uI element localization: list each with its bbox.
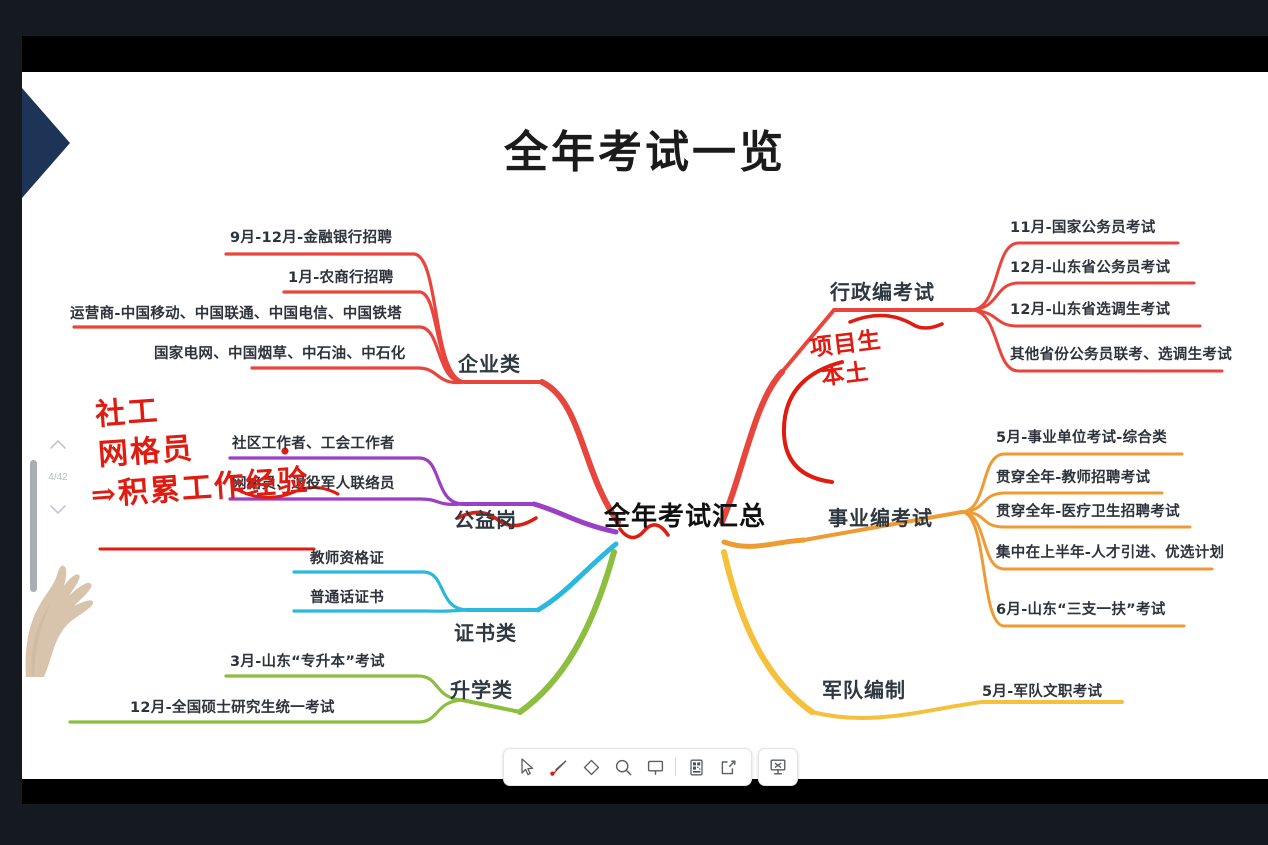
leaf-zhengshulei-0[interactable]: 教师资格证 xyxy=(310,547,384,568)
slide-canvas[interactable]: 全年考试一览 xyxy=(22,72,1268,779)
qrcode-icon xyxy=(687,758,706,777)
branch-label-shengxuelei[interactable]: 升学类 xyxy=(450,674,513,703)
leaf-shengxuelei-0[interactable]: 3月-山东“专升本”考试 xyxy=(230,650,385,671)
handwriting-annotation-left: 社工 网格员 ⇒积累工作经验 xyxy=(94,381,311,515)
eraser-tool-button[interactable] xyxy=(575,751,607,783)
toolbar-tools-group xyxy=(503,748,752,786)
pen-icon xyxy=(549,757,569,777)
leaf-shengxuelei-1[interactable]: 12月-全国硕士研究生统一考试 xyxy=(130,696,335,717)
whiteboard-tool-button[interactable] xyxy=(639,751,671,783)
leaf-shiyebian-2[interactable]: 贯穿全年-医疗卫生招聘考试 xyxy=(996,500,1180,521)
leaf-qiyelei-3[interactable]: 国家电网、中国烟草、中石油、中石化 xyxy=(154,342,406,363)
share-button[interactable] xyxy=(712,751,744,783)
chevron-down-icon xyxy=(50,505,66,515)
branch-label-jundui[interactable]: 军队编制 xyxy=(822,674,906,703)
whiteboard-icon xyxy=(646,758,665,777)
screen-root: 全年考试一览 xyxy=(0,0,1268,845)
leaf-jundui-0[interactable]: 5月-军队文职考试 xyxy=(982,680,1102,701)
branch-label-gongyigang[interactable]: 公益岗 xyxy=(454,504,517,533)
zoom-tool-button[interactable] xyxy=(607,751,639,783)
prev-page-button[interactable] xyxy=(40,430,76,458)
chevron-up-icon xyxy=(50,439,66,449)
cursor-tool-button[interactable] xyxy=(511,751,543,783)
leaf-shiyebian-1[interactable]: 贯穿全年-教师招聘考试 xyxy=(996,466,1150,487)
center-node-label[interactable]: 全年考试汇总 xyxy=(604,496,766,533)
exit-presentation-icon xyxy=(768,757,788,777)
eraser-icon xyxy=(582,758,601,777)
leaf-shiyebian-4[interactable]: 6月-山东“三支一扶”考试 xyxy=(996,598,1166,619)
page-navigation-rail[interactable]: 4/42 xyxy=(40,430,76,528)
slide-scrollbar-thumb[interactable] xyxy=(30,460,37,592)
leaf-xingzhengbian-1[interactable]: 12月-山东省公务员考试 xyxy=(1010,256,1170,277)
branch-label-shiyebian[interactable]: 事业编考试 xyxy=(828,502,933,531)
leaf-shiyebian-0[interactable]: 5月-事业单位考试-综合类 xyxy=(996,426,1167,447)
pen-tool-button[interactable] xyxy=(543,751,575,783)
qrcode-button[interactable] xyxy=(680,751,712,783)
leaf-xingzhengbian-0[interactable]: 11月-国家公务员考试 xyxy=(1010,216,1156,237)
toolbar-divider xyxy=(675,758,676,776)
branch-label-zhengshulei[interactable]: 证书类 xyxy=(454,617,517,646)
leaf-qiyelei-1[interactable]: 1月-农商行招聘 xyxy=(288,266,394,287)
presentation-toolbar[interactable] xyxy=(503,748,798,786)
branch-label-xingzhengbian[interactable]: 行政编考试 xyxy=(830,276,935,305)
branch-label-qiyelei[interactable]: 企业类 xyxy=(458,348,521,377)
leaf-xingzhengbian-3[interactable]: 其他省份公务员联考、选调生考试 xyxy=(1010,343,1232,364)
leaf-zhengshulei-1[interactable]: 普通话证书 xyxy=(310,586,384,607)
leaf-shiyebian-3[interactable]: 集中在上半年-人才引进、优选计划 xyxy=(996,541,1224,562)
search-icon xyxy=(614,758,633,777)
leaf-xingzhengbian-2[interactable]: 12月-山东省选调生考试 xyxy=(1010,298,1170,319)
handwriting-annotation-right: 项目生 本土 xyxy=(808,325,887,393)
leaf-qiyelei-2[interactable]: 运营商-中国移动、中国联通、中国电信、中国铁塔 xyxy=(70,302,402,323)
exit-presentation-button[interactable] xyxy=(758,748,798,786)
share-export-icon xyxy=(719,758,738,777)
page-indicator: 4/42 xyxy=(40,462,76,492)
next-page-button[interactable] xyxy=(40,496,76,524)
leaf-qiyelei-0[interactable]: 9月-12月-金融银行招聘 xyxy=(230,226,392,247)
cursor-arrow-icon xyxy=(518,758,536,776)
